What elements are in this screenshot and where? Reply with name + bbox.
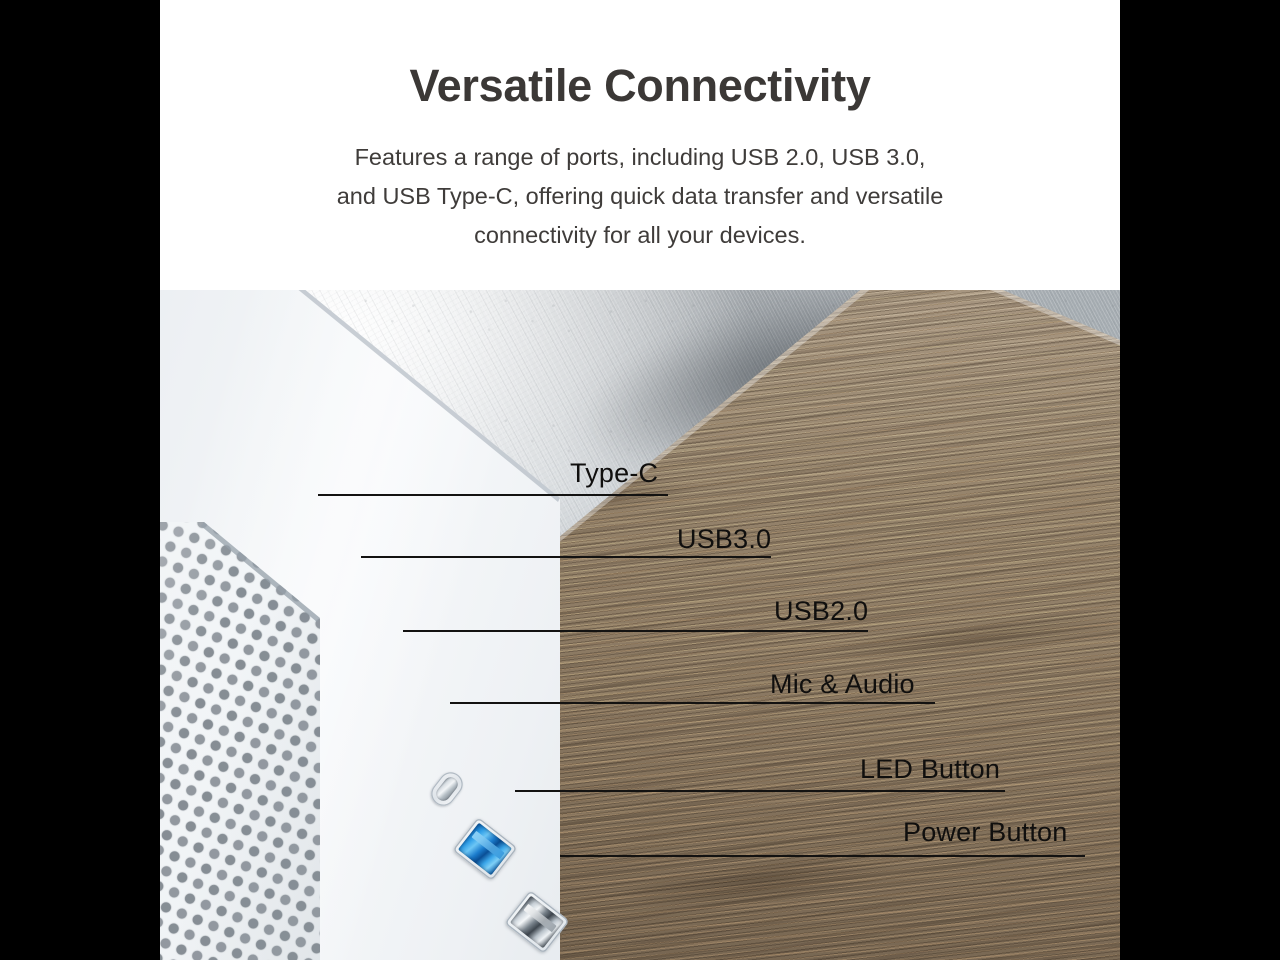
screenshot-root: Versatile Connectivity Features a range …: [0, 0, 1280, 960]
leader-line-power-button: [560, 855, 1085, 857]
page-subtitle: Features a range of ports, including USB…: [220, 138, 1060, 255]
leader-line-usb3: [361, 556, 771, 558]
leader-line-led-button: [515, 790, 1005, 792]
callout-label-mic-audio: Mic & Audio: [770, 669, 915, 700]
leader-line-usb2: [403, 630, 868, 632]
subtitle-line-3: connectivity for all your devices.: [220, 216, 1060, 255]
subtitle-line-2: and USB Type-C, offering quick data tran…: [220, 177, 1060, 216]
page-title: Versatile Connectivity: [160, 60, 1120, 112]
header-section: Versatile Connectivity Features a range …: [160, 0, 1120, 290]
callout-label-type-c: Type-C: [570, 458, 658, 489]
callout-label-led-button: LED Button: [860, 754, 1000, 785]
leader-line-mic-audio: [450, 702, 935, 704]
callout-label-usb2: USB2.0: [774, 596, 868, 627]
content-column: Versatile Connectivity Features a range …: [160, 0, 1120, 960]
callout-label-power-button: Power Button: [903, 817, 1068, 848]
product-photo: Type-C USB3.0 USB2.0 Mic & Audio LED But…: [160, 290, 1120, 960]
letterbox-bar-right: [1120, 0, 1280, 960]
subtitle-line-1: Features a range of ports, including USB…: [220, 138, 1060, 177]
letterbox-bar-left: [0, 0, 160, 960]
leader-line-type-c: [318, 494, 668, 496]
callout-label-usb3: USB3.0: [677, 524, 771, 555]
